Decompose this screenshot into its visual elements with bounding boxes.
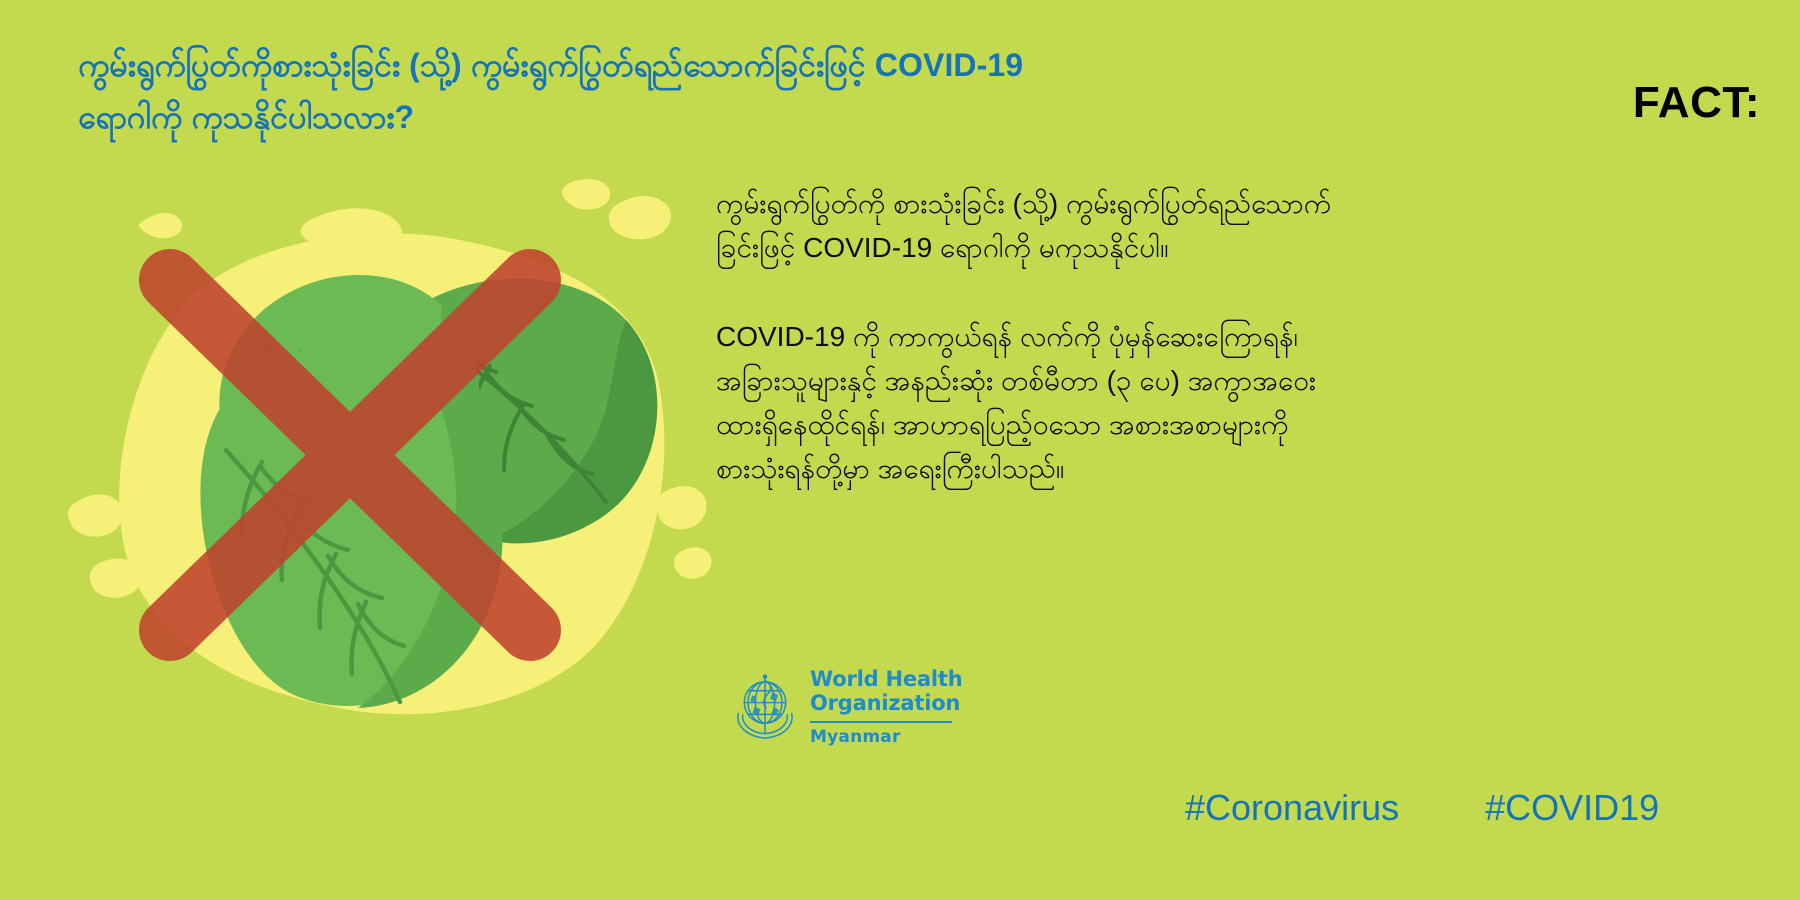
betel-leaves-crossed-out-illustration xyxy=(60,160,720,720)
headline-line-2: ရောဂါကို ကုသနိုင်ပါသလား? xyxy=(78,92,1278,144)
body-p2-line-1: COVID-19 ကို ကာကွယ်ရန် လက်ကို ပုံမှန်ဆေး… xyxy=(716,321,1298,352)
body-p1-line-2: ခြင်းဖြင့် COVID-19 ရောဂါကို မကုသနိုင်ပါ… xyxy=(716,232,1169,263)
headline-line-1: ကွမ်းရွက်ပြွတ်ကိုစားသုံးခြင်း (သို့) ကွမ… xyxy=(78,40,1278,92)
who-wordmark-divider xyxy=(810,721,952,723)
poster-canvas: ကွမ်းရွက်ပြွတ်ကိုစားသုံးခြင်း (သို့) ကွမ… xyxy=(0,0,1800,900)
body-p2-line-3: ထားရှိနေထိုင်ရန်၊ အာဟာရပြည့်ဝသော အစားအစာ… xyxy=(716,409,1288,440)
fact-label: FACT: xyxy=(1633,78,1760,128)
body-copy: ကွမ်းရွက်ပြွတ်ကို စားသုံးခြင်း (သို့) ကွ… xyxy=(716,182,1516,492)
body-p2-line-4: စားသုံးရန်တို့မှာ အရေးကြီးပါသည်။ xyxy=(716,453,1064,484)
body-p1-line-1: ကွမ်းရွက်ပြွတ်ကို စားသုံးခြင်း (သို့) ကွ… xyxy=(716,188,1331,219)
who-country-label: Myanmar xyxy=(810,727,963,747)
hashtag-covid19[interactable]: #COVID19 xyxy=(1485,787,1659,829)
body-paragraph-1: ကွမ်းရွက်ပြွတ်ကို စားသုံးခြင်း (သို့) ကွ… xyxy=(716,182,1516,270)
hashtag-coronavirus[interactable]: #Coronavirus xyxy=(1185,787,1399,829)
body-p2-line-2: အခြားသူများနှင့် အနည်းဆုံး တစ်မီတာ (၃ ပေ… xyxy=(716,365,1316,396)
body-paragraph-2: COVID-19 ကို ကာကွယ်ရန် လက်ကို ပုံမှန်ဆေး… xyxy=(716,315,1516,492)
who-wordmark-line-1: World Health xyxy=(810,668,963,692)
who-wordmark-line-2: Organization xyxy=(810,692,963,716)
who-wordmark: World Health Organization Myanmar xyxy=(810,668,963,747)
hashtag-group: #Coronavirus #COVID19 xyxy=(1185,787,1659,829)
who-emblem-icon xyxy=(728,670,802,744)
who-logo: World Health Organization Myanmar xyxy=(728,668,968,766)
headline: ကွမ်းရွက်ပြွတ်ကိုစားသုံးခြင်း (သို့) ကွမ… xyxy=(78,40,1278,144)
